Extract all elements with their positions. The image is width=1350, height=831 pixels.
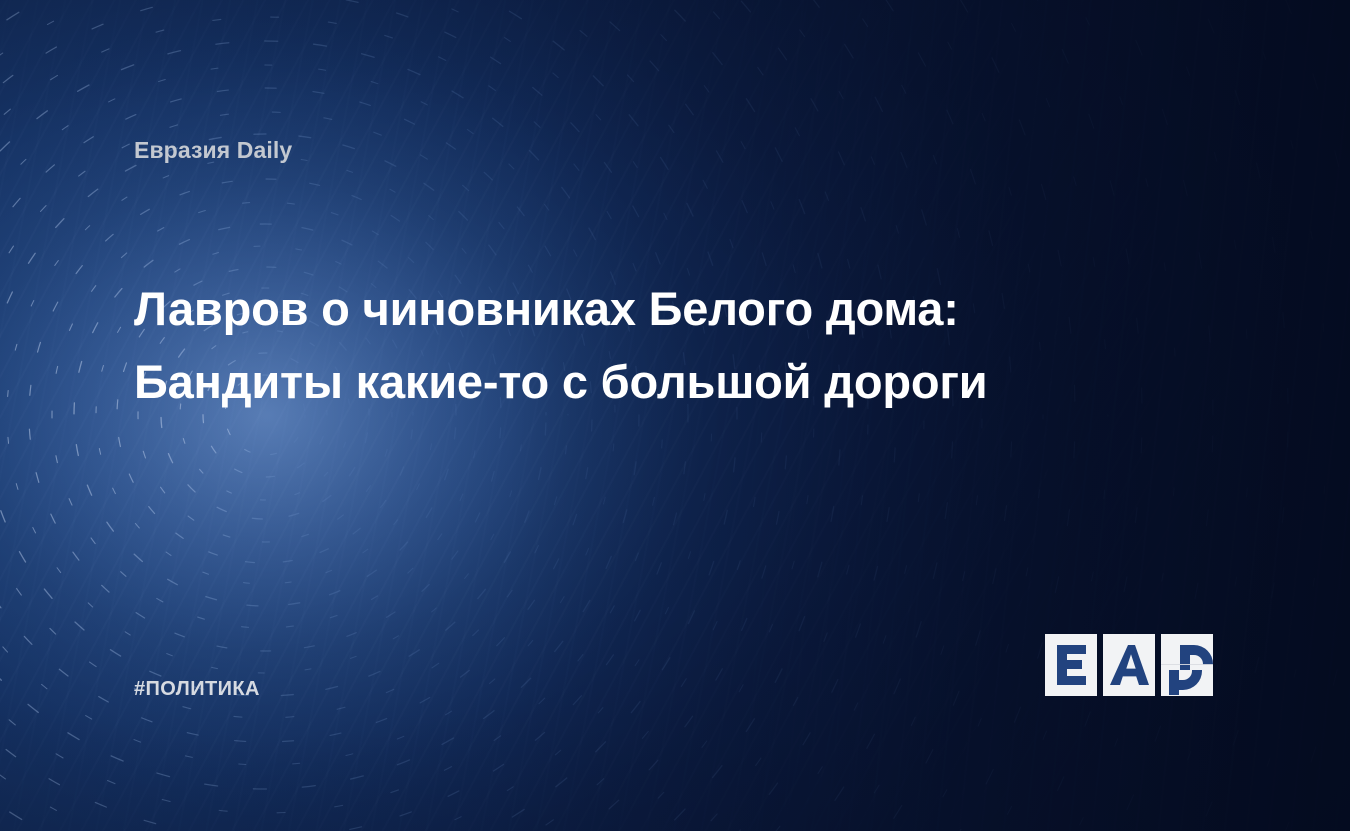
social-share-card: Евразия Daily Лавров о чиновниках Белого…	[0, 0, 1350, 831]
card-content: Евразия Daily Лавров о чиновниках Белого…	[0, 0, 1350, 831]
category-tag[interactable]: #ПОЛИТИКА	[134, 678, 260, 701]
headline-line-1: Лавров о чиновниках Белого дома:	[134, 272, 1194, 345]
eadaily-logo[interactable]	[1045, 632, 1220, 704]
headline-line-2: Бандиты какие-то с большой дороги	[134, 345, 1194, 418]
page-title: Лавров о чиновниках Белого дома: Бандиты…	[134, 272, 1194, 418]
logo-letter-e	[1057, 645, 1086, 685]
site-name: Евразия Daily	[134, 137, 292, 164]
